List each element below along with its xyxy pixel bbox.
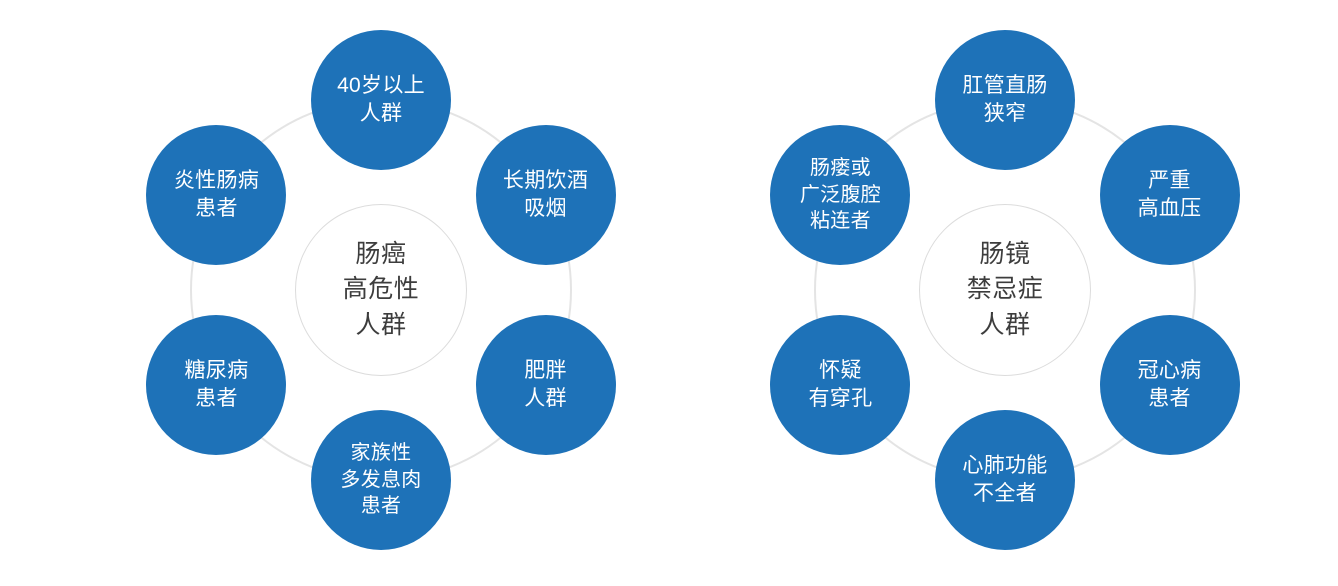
hub-line: 肠癌 <box>355 237 406 273</box>
node-label-line: 40岁以上 <box>337 72 425 100</box>
node-obese-population[interactable]: 肥胖人群 <box>476 315 616 455</box>
node-label-line: 粘连者 <box>810 208 871 234</box>
node-label-line: 肛管直肠 <box>962 72 1047 100</box>
node-coronary-heart-disease[interactable]: 冠心病患者 <box>1100 315 1240 455</box>
hub-line: 肠镜 <box>979 237 1030 273</box>
hub-colonoscopy-contraindications: 肠镜 禁忌症 人群 <box>919 204 1091 376</box>
node-label-line: 长期饮酒 <box>503 167 588 195</box>
hub-line: 禁忌症 <box>967 272 1044 308</box>
node-label-line: 冠心病 <box>1138 357 1202 385</box>
hub-colorectal-cancer-high-risk: 肠癌 高危性 人群 <box>295 204 467 376</box>
hub-line: 高危性 <box>343 272 420 308</box>
node-label-line: 炎性肠病 <box>174 167 259 195</box>
node-label-line: 不全者 <box>973 480 1037 508</box>
node-label-line: 患者 <box>361 493 402 519</box>
node-cardiopulmonary-insufficiency[interactable]: 心肺功能不全者 <box>935 410 1075 550</box>
node-label-line: 肥胖 <box>524 357 567 385</box>
node-label-line: 患者 <box>1148 385 1191 413</box>
node-label-line: 肠瘘或 <box>810 155 871 181</box>
node-label-line: 有穿孔 <box>809 385 873 413</box>
node-label-line: 严重 <box>1148 167 1191 195</box>
node-age-over-40[interactable]: 40岁以上人群 <box>311 30 451 170</box>
node-label-line: 吸烟 <box>524 195 567 223</box>
node-label-line: 患者 <box>195 385 238 413</box>
node-anorectal-stricture[interactable]: 肛管直肠狭窄 <box>935 30 1075 170</box>
node-label-line: 狭窄 <box>984 100 1027 128</box>
node-long-term-drinking-smoking[interactable]: 长期饮酒吸烟 <box>476 125 616 265</box>
node-label-line: 患者 <box>195 195 238 223</box>
node-label-line: 多发息肉 <box>340 467 421 493</box>
node-label-line: 高血压 <box>1138 195 1202 223</box>
node-label-line: 怀疑 <box>819 357 862 385</box>
hub-line: 人群 <box>355 308 406 344</box>
node-label-line: 家族性 <box>351 440 412 466</box>
diagram-canvas: 肠癌 高危性 人群 40岁以上人群长期饮酒吸烟肥胖人群家族性多发息肉患者糖尿病患… <box>0 0 1338 586</box>
node-label-line: 人群 <box>360 100 403 128</box>
node-intestinal-fistula-adhesion[interactable]: 肠瘘或广泛腹腔粘连者 <box>770 125 910 265</box>
diagram-colorectal-cancer-high-risk: 肠癌 高危性 人群 40岁以上人群长期饮酒吸烟肥胖人群家族性多发息肉患者糖尿病患… <box>0 0 669 586</box>
node-label-line: 糖尿病 <box>185 357 249 385</box>
node-suspected-perforation[interactable]: 怀疑有穿孔 <box>770 315 910 455</box>
diagram-colonoscopy-contraindications: 肠镜 禁忌症 人群 肛管直肠狭窄严重高血压冠心病患者心肺功能不全者怀疑有穿孔肠瘘… <box>669 0 1338 586</box>
node-label-line: 心肺功能 <box>962 452 1047 480</box>
node-ibd-patients[interactable]: 炎性肠病患者 <box>146 125 286 265</box>
node-diabetes-patients[interactable]: 糖尿病患者 <box>146 315 286 455</box>
node-familial-polyposis[interactable]: 家族性多发息肉患者 <box>311 410 451 550</box>
hub-line: 人群 <box>979 308 1030 344</box>
node-label-line: 人群 <box>524 385 567 413</box>
node-severe-hypertension[interactable]: 严重高血压 <box>1100 125 1240 265</box>
node-label-line: 广泛腹腔 <box>800 182 881 208</box>
